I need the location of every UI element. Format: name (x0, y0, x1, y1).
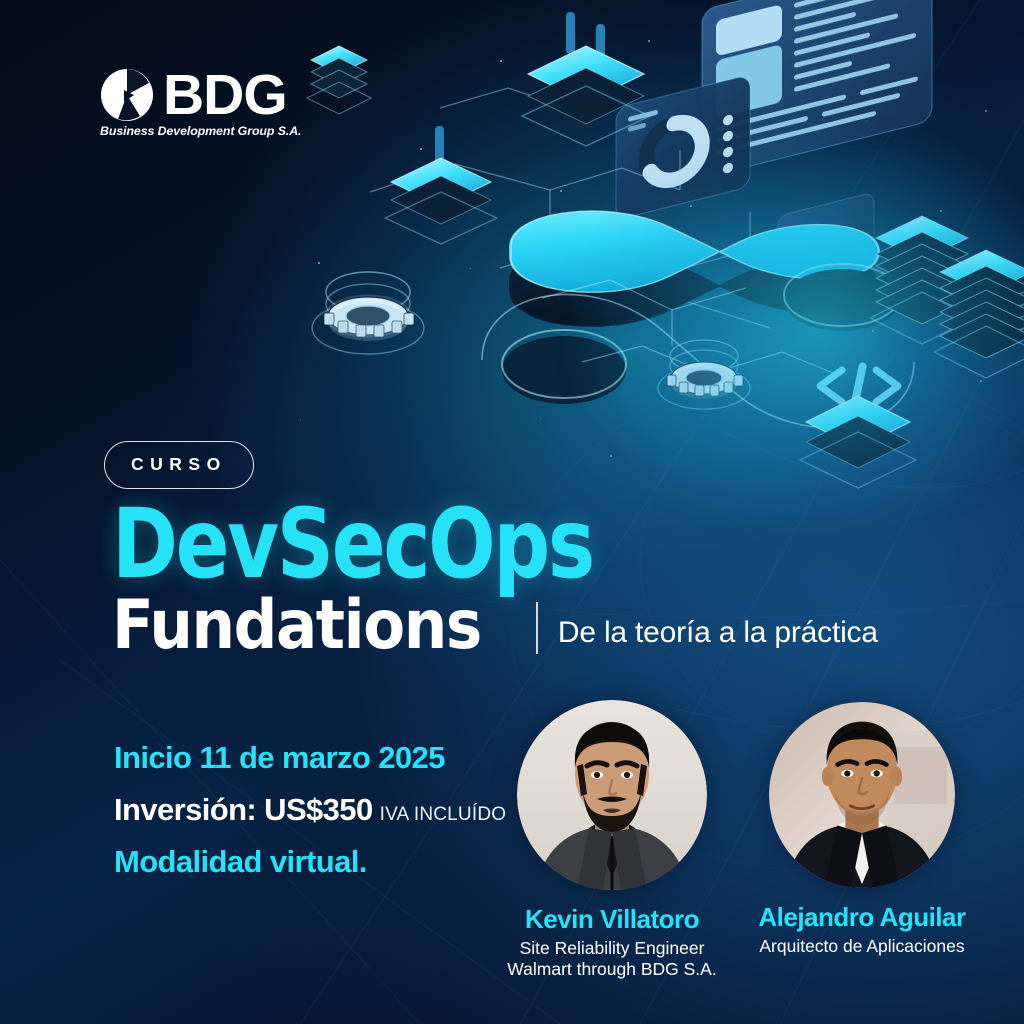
speaker-role-line-2: Walmart through BDG S.A. (498, 959, 726, 980)
page-tagline: De la teoría a la práctica (558, 616, 878, 650)
detail-price-row: Inversión: US$350IVA INCLUÍDO (114, 792, 506, 828)
course-details: Inicio 11 de marzo 2025 Inversión: US$35… (114, 740, 506, 896)
gear-large-left-icon (312, 272, 424, 354)
speaker-photo-kevin-villatoro (517, 700, 707, 890)
detail-modality-row: Modalidad virtual. (114, 844, 506, 880)
speaker-role-line-1: Arquitecto de Aplicaciones (748, 936, 976, 957)
detail-start-date: Inicio 11 de marzo 2025 (114, 740, 445, 775)
title-divider (536, 602, 538, 654)
curso-badge: CURSO (104, 441, 254, 489)
speaker-photo-alejandro-aguilar (769, 702, 955, 888)
speaker-role-line-1: Site Reliability Engineer (498, 938, 726, 959)
detail-price: Inversión: US$350 (114, 792, 373, 827)
speaker-name: Kevin Villatoro (498, 904, 726, 935)
platform-cube-pin-left (385, 126, 497, 244)
headline-block: DevSecOps Fundations De la teoría a la p… (112, 500, 878, 660)
detail-price-note: IVA INCLUÍDO (380, 804, 507, 825)
speaker-card-1: Kevin Villatoro Site Reliability Enginee… (498, 700, 726, 981)
hero-artwork (250, 0, 1024, 520)
speaker-role: Arquitecto de Aplicaciones (748, 936, 976, 957)
speaker-card-2: Alejandro Aguilar Arquitecto de Aplicaci… (748, 702, 976, 981)
page-subtitle: Fundations (112, 592, 481, 660)
infinity-glow (560, 120, 1024, 540)
bdg-pie-mark-icon (100, 68, 154, 122)
speaker-name: Alejandro Aguilar (748, 902, 976, 933)
detail-start-date-row: Inicio 11 de marzo 2025 (114, 740, 506, 776)
detail-modality: Modalidad virtual. (114, 844, 367, 879)
speakers-section: Kevin Villatoro Site Reliability Enginee… (498, 700, 998, 981)
page-title: DevSecOps (112, 500, 817, 588)
speaker-role: Site Reliability Engineer Walmart throug… (498, 938, 726, 981)
poster-canvas: BDG Business Development Group S.A. (0, 0, 1024, 1024)
server-stack-small-left (307, 46, 371, 114)
